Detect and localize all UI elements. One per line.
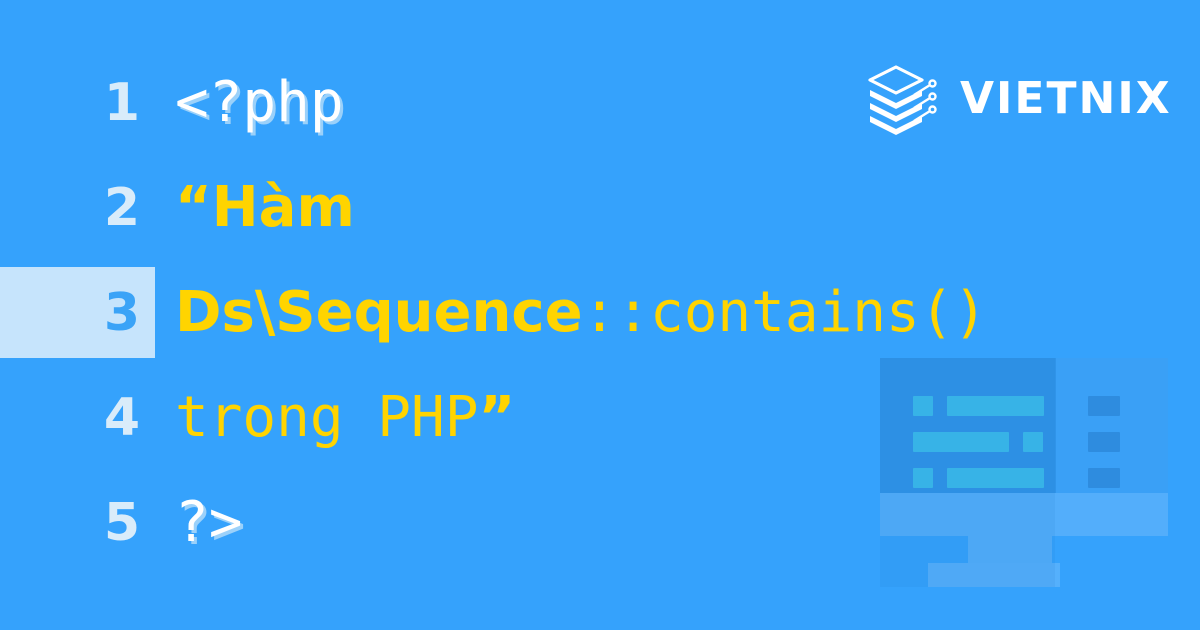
line-number: 2 bbox=[0, 182, 155, 234]
code-line: 4trong PHP” bbox=[0, 365, 1200, 470]
social-card-canvas: VIETNIX 1<?php2“Hàm3Ds\Sequence::contain… bbox=[0, 0, 1200, 630]
code-line: 2“Hàm bbox=[0, 155, 1200, 260]
code-segment: “Hàm bbox=[175, 175, 355, 240]
code-block: 1<?php2“Hàm3Ds\Sequence::contains()4tron… bbox=[0, 50, 1200, 575]
code-line-text: trong PHP” bbox=[155, 390, 1200, 446]
code-line-text: <?php bbox=[155, 75, 1200, 131]
code-segment: ” bbox=[478, 385, 515, 450]
code-segment: ::contains() bbox=[583, 280, 988, 345]
code-segment: trong PHP bbox=[175, 385, 478, 450]
code-line-text: Ds\Sequence::contains() bbox=[155, 285, 1200, 341]
line-number: 1 bbox=[0, 77, 155, 129]
code-segment: <?php bbox=[175, 70, 344, 135]
code-segment: Ds\Sequence bbox=[175, 280, 583, 345]
code-line-text: “Hàm bbox=[155, 180, 1200, 236]
line-number: 3 bbox=[0, 287, 155, 339]
code-line: 1<?php bbox=[0, 50, 1200, 155]
line-number: 4 bbox=[0, 392, 155, 444]
code-line-text: ?> bbox=[155, 495, 1200, 551]
line-number: 5 bbox=[0, 497, 155, 549]
code-line: 5?> bbox=[0, 470, 1200, 575]
code-line: 3Ds\Sequence::contains() bbox=[0, 260, 1200, 365]
code-segment: ?> bbox=[175, 490, 242, 555]
